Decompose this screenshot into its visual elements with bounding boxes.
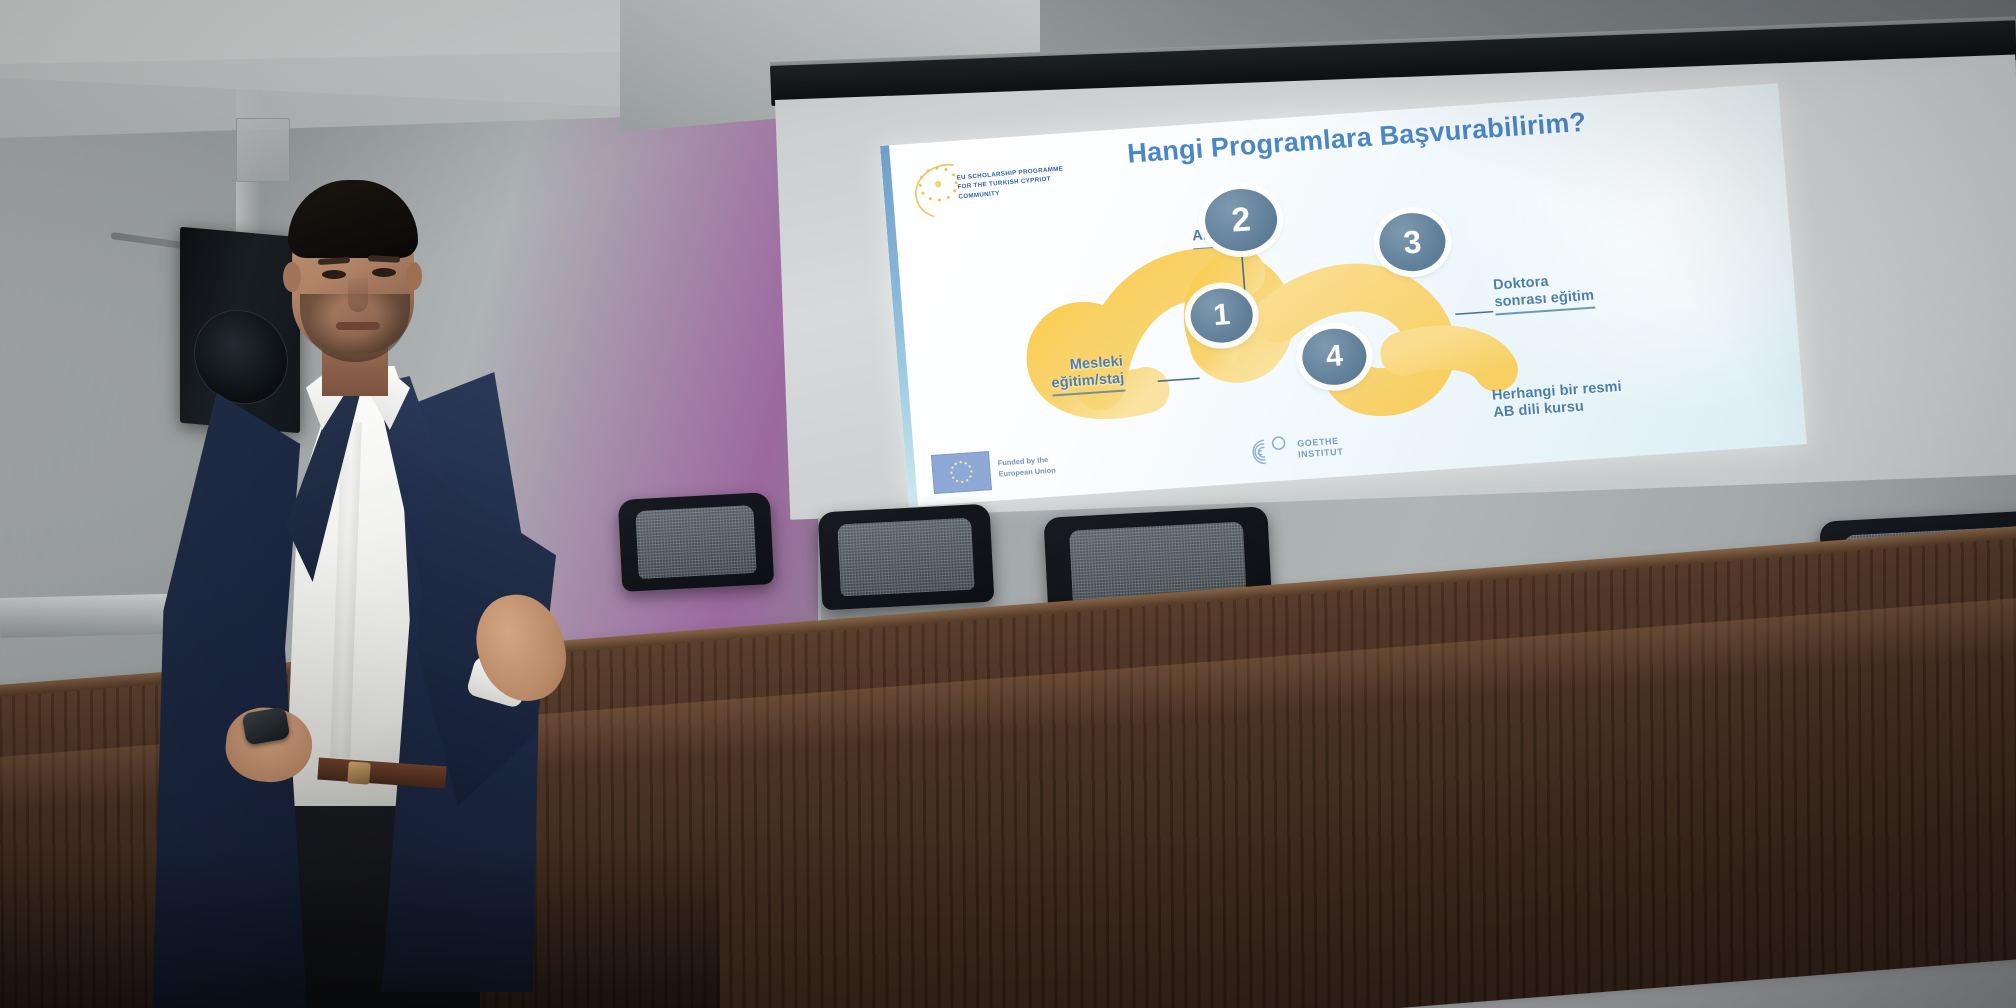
eu-flag-stars-icon — [932, 452, 991, 493]
presenter-ear-right — [406, 262, 422, 290]
goethe-line2: INSTITUT — [1298, 447, 1344, 461]
wall-vent-panel — [236, 118, 290, 182]
presenter-eye-left — [322, 270, 346, 279]
presenter-mouth — [336, 322, 380, 330]
presenter — [140, 176, 560, 1008]
goethe-text: GOETHE INSTITUT — [1297, 435, 1344, 461]
diagram-label-3: Doktora sonrası eğitim — [1493, 271, 1595, 315]
chair-mesh — [837, 517, 975, 596]
goethe-mark-icon — [1234, 430, 1295, 472]
presenter-hair — [288, 180, 418, 258]
presenter-ear-left — [283, 262, 301, 292]
office-chair — [818, 504, 995, 611]
screenshot-root: EU SCHOLARSHIP PROGRAMME FOR THE TURKISH… — [0, 0, 2016, 1008]
chair-mesh — [635, 505, 757, 579]
diagram-label-1: Mesleki eğitim/staj — [1050, 354, 1126, 397]
presenter-eye-right — [372, 268, 396, 277]
presenter-belt-buckle — [347, 761, 370, 784]
eu-flag-icon — [931, 451, 992, 494]
goethe-institut-logo: GOETHE INSTITUT — [1234, 425, 1367, 472]
office-chair — [618, 492, 775, 592]
eu-funded-text: Funded by the European Union — [997, 455, 1056, 480]
projected-slide: EU SCHOLARSHIP PROGRAMME FOR THE TURKISH… — [880, 83, 1807, 507]
presenter-nose — [348, 278, 368, 312]
